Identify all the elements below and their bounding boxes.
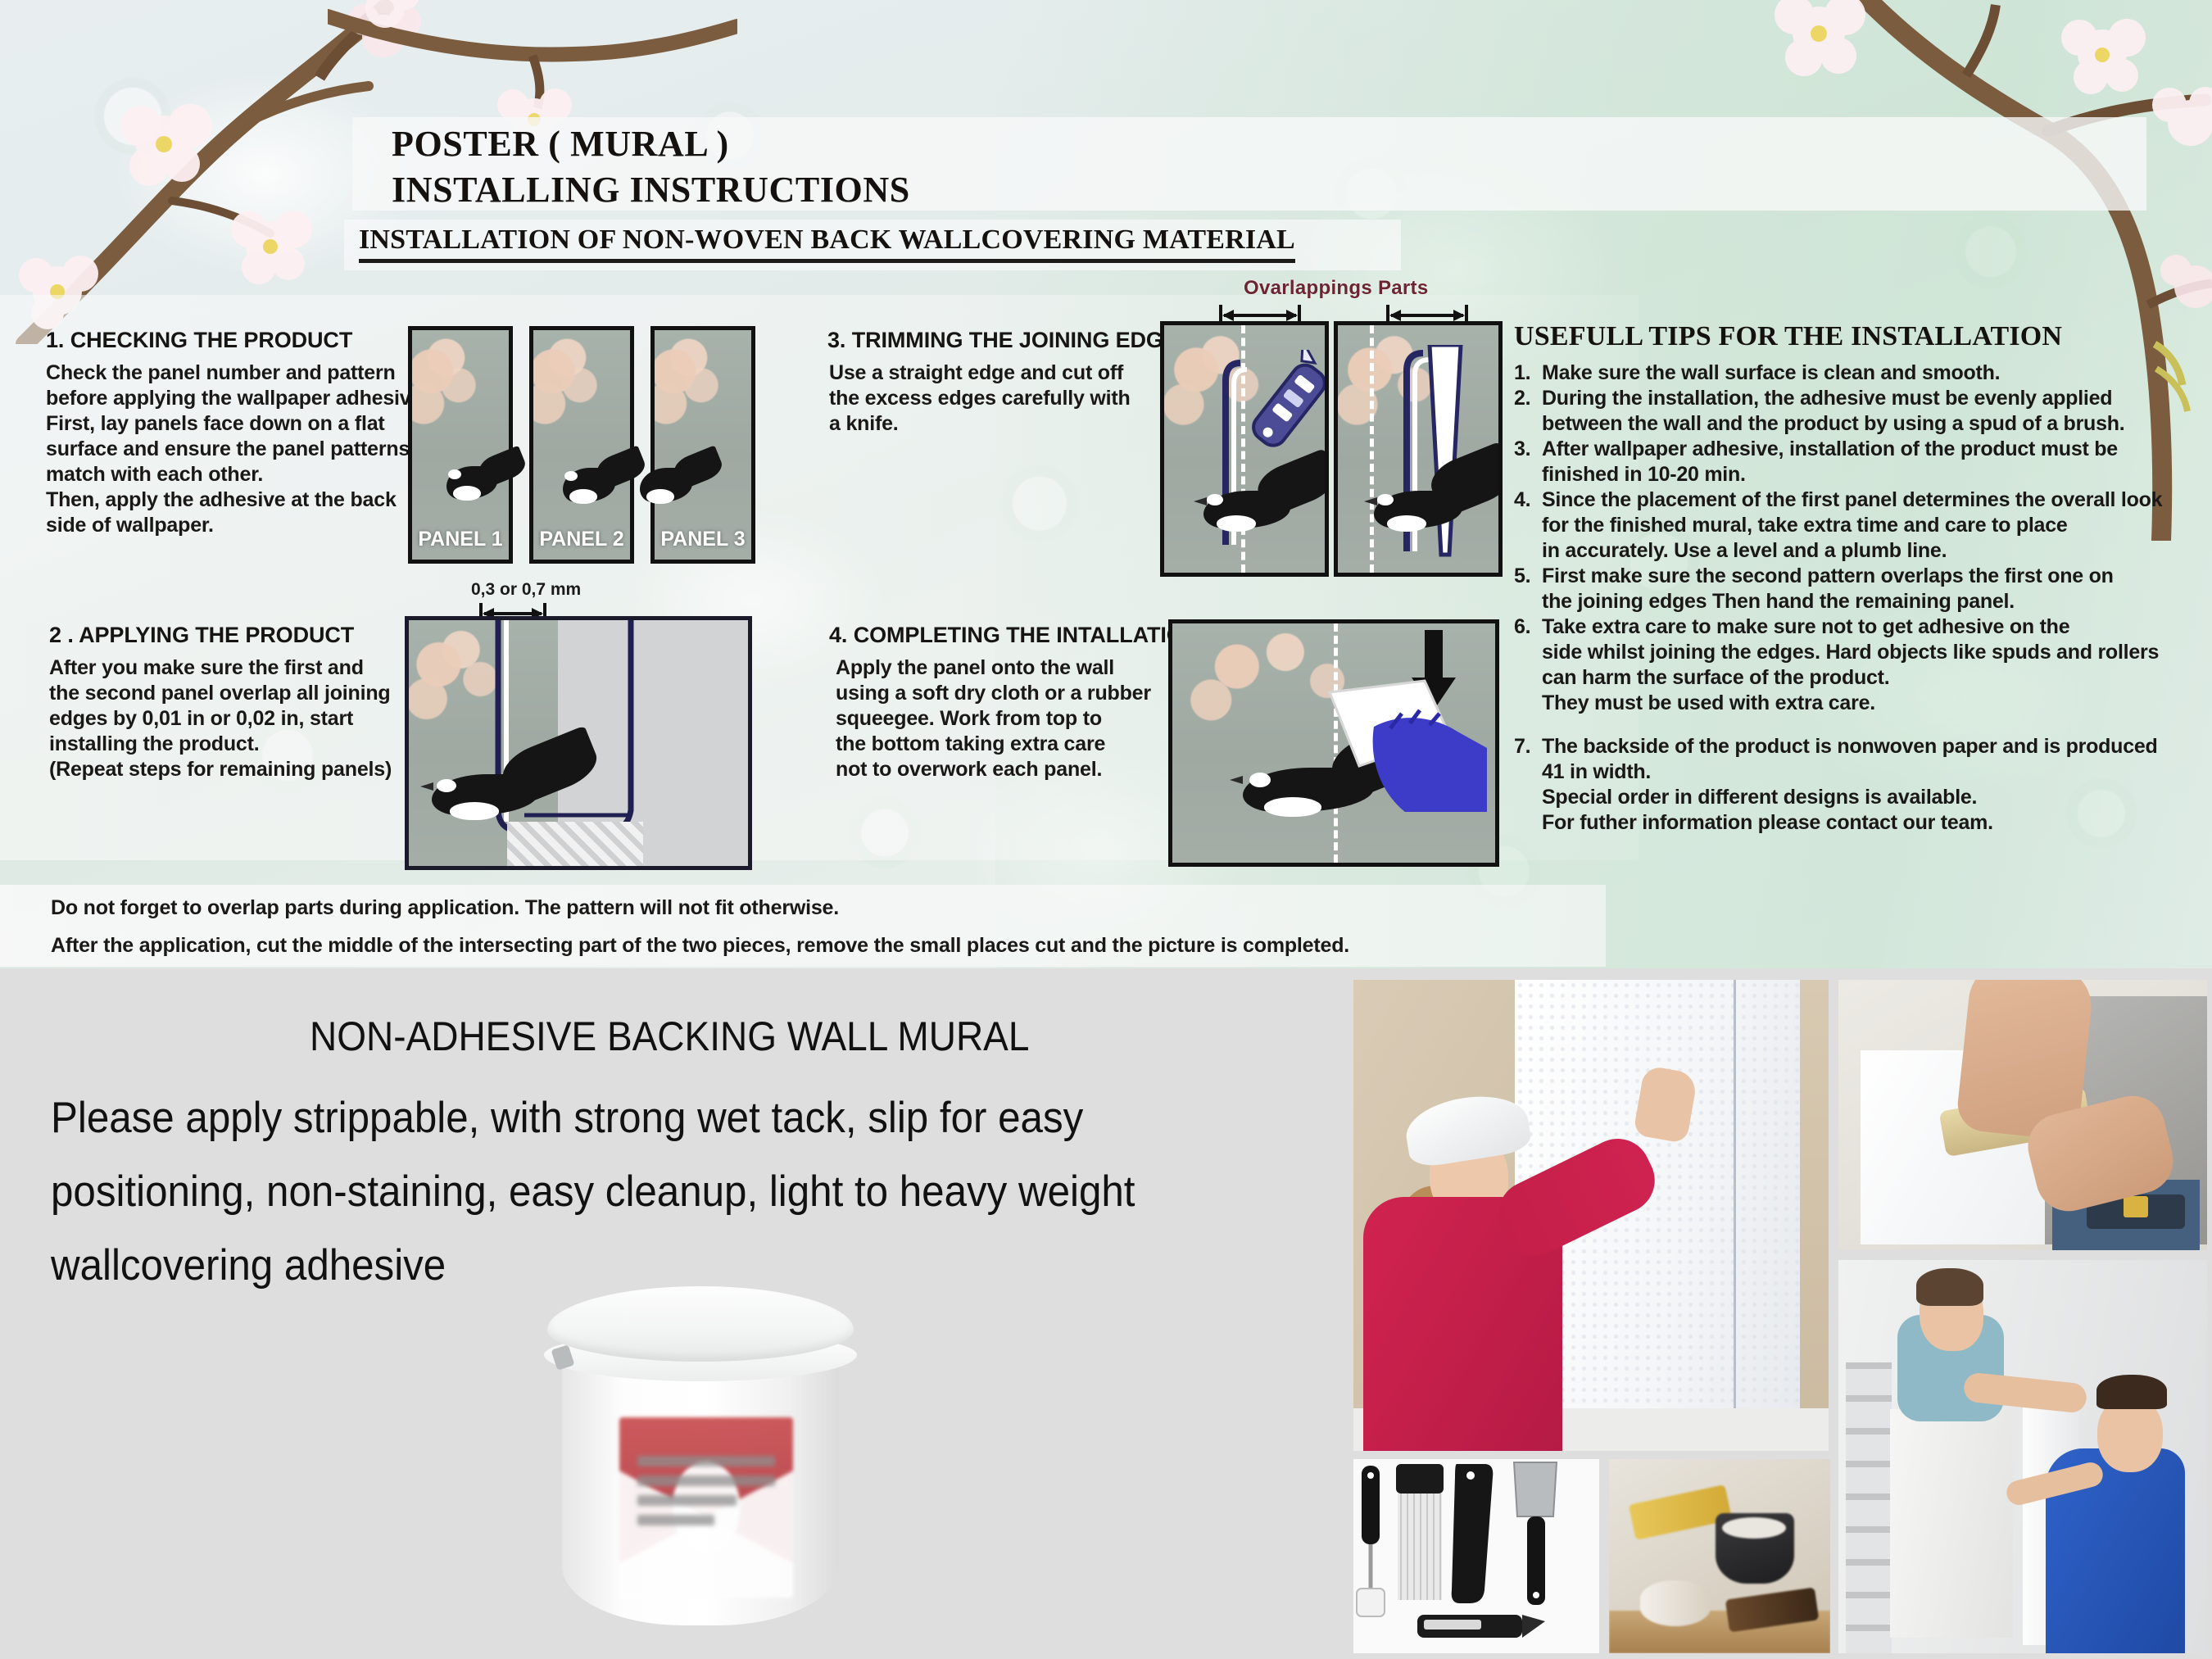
step-2-body: After you make sure the first and the se… <box>49 655 392 782</box>
step-1-line-6: Then, apply the adhesive at the back <box>46 487 428 513</box>
photo-two-ladder <box>1846 1362 1892 1653</box>
panel-2-label: PANEL 2 <box>533 528 630 551</box>
page-subtitle: INSTALLATION OF NON-WOVEN BACK WALLCOVER… <box>359 224 1295 263</box>
step-4-illustration <box>1168 619 1499 867</box>
step-3-body: Use a straight edge and cut off the exce… <box>829 360 1131 437</box>
panel-2: PANEL 2 <box>529 326 634 564</box>
tip-6-line-1: Take extra care to make sure not to get … <box>1542 614 2159 640</box>
page-title-line2: INSTALLING INSTRUCTIONS <box>392 169 910 211</box>
tip-2-line-2: between the wall and the product by usin… <box>1542 411 2124 437</box>
photo-woman-paper-seam <box>1734 980 1736 1413</box>
tips-list: 1. Make sure the wall surface is clean a… <box>1514 360 2202 836</box>
tip-item-3: 3. After wallpaper adhesive, installatio… <box>1514 437 2202 487</box>
step-1-line-7: side of wallpaper. <box>46 513 428 538</box>
tool-set-icon <box>1353 1459 1599 1653</box>
step-2-line-2: the second panel overlap all joining <box>49 681 392 706</box>
step-3-left-bird-icon <box>1203 458 1326 548</box>
tip-7-line-4: For futher information please contact ou… <box>1542 810 2158 836</box>
panel-1-bird-icon <box>446 453 517 512</box>
step-3-line-1: Use a straight edge and cut off <box>829 360 1131 386</box>
tip-6-number: 6. <box>1514 614 1542 716</box>
photo-two-man-hair <box>1916 1268 1983 1306</box>
step-2-bird-icon <box>432 741 596 840</box>
bucket-lid <box>547 1286 854 1362</box>
step-4-body: Apply the panel onto the wall using a so… <box>836 655 1151 782</box>
promo-line-2: positioning, non-staining, easy cleanup,… <box>51 1155 1240 1229</box>
tip-5-line-1: First make sure the second pattern overl… <box>1542 564 2114 589</box>
gloved-hand-with-cloth-icon <box>1326 678 1490 817</box>
step-2-line-5: (Repeat steps for remaining panels) <box>49 757 392 782</box>
tip-6-lines: Take extra care to make sure not to get … <box>1542 614 2159 716</box>
photo-roller-belt-buckle <box>2124 1196 2148 1217</box>
step-4-heading: 4. COMPLETING THE INTALLATION <box>829 623 1199 648</box>
tip-6-line-2: side whilst joining the edges. Hard obje… <box>1542 640 2159 665</box>
tip-7-number: 7. <box>1514 734 1542 836</box>
photo-two-people-smoothing-wall <box>1838 1260 2207 1653</box>
bucket-label-text <box>637 1447 775 1534</box>
photo-two-man-trousers <box>1890 1409 2013 1637</box>
step-3-right-bird-icon <box>1374 455 1503 553</box>
step-2-line-1: After you make sure the first and <box>49 655 392 681</box>
instructions-section: POSTER ( MURAL ) INSTALLING INSTRUCTIONS… <box>0 0 2212 968</box>
tip-3-line-2: finished in 10-20 min. <box>1542 462 2118 487</box>
tip-7-line-1: The backside of the product is nonwoven … <box>1542 734 2158 759</box>
step-4-line-4: the bottom taking extra care <box>836 732 1151 757</box>
step-4-line-1: Apply the panel onto the wall <box>836 655 1151 681</box>
note-line-2: After the application, cut the middle of… <box>51 934 1349 958</box>
tip-7-line-3: Special order in different designs is av… <box>1542 785 2158 810</box>
step-2-line-4: installing the product. <box>49 732 392 757</box>
tip-item-6: 6. Take extra care to make sure not to g… <box>1514 614 2202 716</box>
photo-collage <box>1353 980 2207 1653</box>
page-title-line1: POSTER ( MURAL ) <box>392 123 729 165</box>
step-1-line-3: First, lay panels face down on a flat <box>46 411 428 437</box>
tip-1-lines: Make sure the wall surface is clean and … <box>1542 360 2000 386</box>
tip-4-number: 4. <box>1514 487 1542 564</box>
tip-item-5: 5. First make sure the second pattern ov… <box>1514 564 2202 614</box>
step-4-line-2: using a soft dry cloth or a rubber <box>836 681 1151 706</box>
step-3-heading: 3. TRIMMING THE JOINING EDGES <box>827 328 1193 353</box>
tip-4-line-2: for the finished mural, take extra time … <box>1542 513 2162 538</box>
step-1-line-5: match with each other. <box>46 462 428 487</box>
step-3-illustration-left <box>1160 321 1329 577</box>
step-3-line-2: the excess edges carefully with <box>829 386 1131 411</box>
tip-7-lines: The backside of the product is nonwoven … <box>1542 734 2158 836</box>
step-1-line-4: surface and ensure the panel patterns <box>46 437 428 462</box>
step-1-line-2: before applying the wallpaper adhesive. <box>46 386 428 411</box>
tip-4-line-1: Since the placement of the first panel d… <box>1542 487 2162 513</box>
tip-4-line-3: in accurately. Use a level and a plumb l… <box>1542 538 2162 564</box>
panel-3: PANEL 3 <box>650 326 755 564</box>
photo-roller-applying-paste <box>1838 980 2207 1250</box>
step-1-line-1: Check the panel number and pattern <box>46 360 428 386</box>
tip-7-line-2: 41 in width. <box>1542 759 2158 785</box>
tip-5-lines: First make sure the second pattern overl… <box>1542 564 2114 614</box>
tip-item-2: 2. During the installation, the adhesive… <box>1514 386 2202 437</box>
step-3-illustration-right <box>1334 321 1503 577</box>
tip-5-line-2: the joining edges Then hand the remainin… <box>1542 589 2114 614</box>
photo-woman-hanging-wallpaper <box>1353 980 1829 1451</box>
panel-2-bird-icon <box>563 453 638 519</box>
promo-body: Please apply strippable, with strong wet… <box>51 1081 1240 1303</box>
promo-line-1: Please apply strippable, with strong wet… <box>51 1081 1240 1155</box>
tip-3-number: 3. <box>1514 437 1542 487</box>
tip-2-lines: During the installation, the adhesive mu… <box>1542 386 2124 437</box>
photo-tools-on-table <box>1609 1459 1830 1653</box>
tip-2-number: 2. <box>1514 386 1542 437</box>
overlap-parts-label: Ovarlappings Parts <box>1244 277 1428 300</box>
step-1-body: Check the panel number and pattern befor… <box>46 360 428 538</box>
tip-item-7: 7. The backside of the product is nonwov… <box>1514 734 2202 836</box>
photo-table-paste-surface <box>1722 1517 1786 1539</box>
step-1-heading: 1. CHECKING THE PRODUCT <box>46 328 352 353</box>
tip-item-1: 1. Make sure the wall surface is clean a… <box>1514 360 2202 386</box>
tip-2-line-1: During the installation, the adhesive mu… <box>1542 386 2124 411</box>
promo-title: NON-ADHESIVE BACKING WALL MURAL <box>310 1013 1029 1060</box>
photo-tool-set <box>1353 1459 1599 1653</box>
step-4-line-3: squeegee. Work from top to <box>836 706 1151 732</box>
utility-knife-icon <box>1248 350 1329 465</box>
tip-5-number: 5. <box>1514 564 1542 614</box>
adhesive-bucket-image <box>541 1286 860 1630</box>
panel-2-mural <box>533 330 630 560</box>
panel-1: PANEL 1 <box>408 326 513 564</box>
step-1-illustration: PANEL 1 PANEL 2 PANEL 3 <box>408 326 760 564</box>
photo-two-child-hair <box>2096 1375 2167 1409</box>
tip-1-number: 1. <box>1514 360 1542 386</box>
poster-root: POSTER ( MURAL ) INSTALLING INSTRUCTIONS… <box>0 0 2212 1659</box>
tip-3-line-1: After wallpaper adhesive, installation o… <box>1542 437 2118 462</box>
panel-1-label: PANEL 1 <box>412 528 509 551</box>
panel-3-bird-icon <box>640 453 715 519</box>
tip-4-lines: Since the placement of the first panel d… <box>1542 487 2162 564</box>
step-2-line-3: edges by 0,01 in or 0,02 in, start <box>49 706 392 732</box>
tip-1-line-1: Make sure the wall surface is clean and … <box>1542 360 2000 386</box>
step-4-line-5: not to overwork each panel. <box>836 757 1151 782</box>
tip-6-line-4: They must be used with extra care. <box>1542 691 2159 716</box>
photo-table-wallpaper-roll <box>1640 1580 1711 1626</box>
gap-measure-label: 0,3 or 0,7 mm <box>471 580 581 600</box>
step-2-illustration <box>405 616 752 870</box>
note-line-1: Do not forget to overlap parts during ap… <box>51 896 839 920</box>
tips-heading: USEFULL TIPS FOR THE INSTALLATION <box>1514 321 2062 352</box>
panel-3-mural <box>655 330 751 560</box>
panel-3-label: PANEL 3 <box>655 528 751 551</box>
photo-table-blur-layer <box>1609 1459 1830 1653</box>
step-2-heading: 2 . APPLYING THE PRODUCT <box>49 623 354 648</box>
step-3-line-3: a knife. <box>829 411 1131 437</box>
tip-6-line-3: can harm the surface of the product. <box>1542 665 2159 691</box>
tip-3-lines: After wallpaper adhesive, installation o… <box>1542 437 2118 487</box>
panel-1-mural <box>412 330 509 560</box>
tip-item-4: 4. Since the placement of the first pane… <box>1514 487 2202 564</box>
